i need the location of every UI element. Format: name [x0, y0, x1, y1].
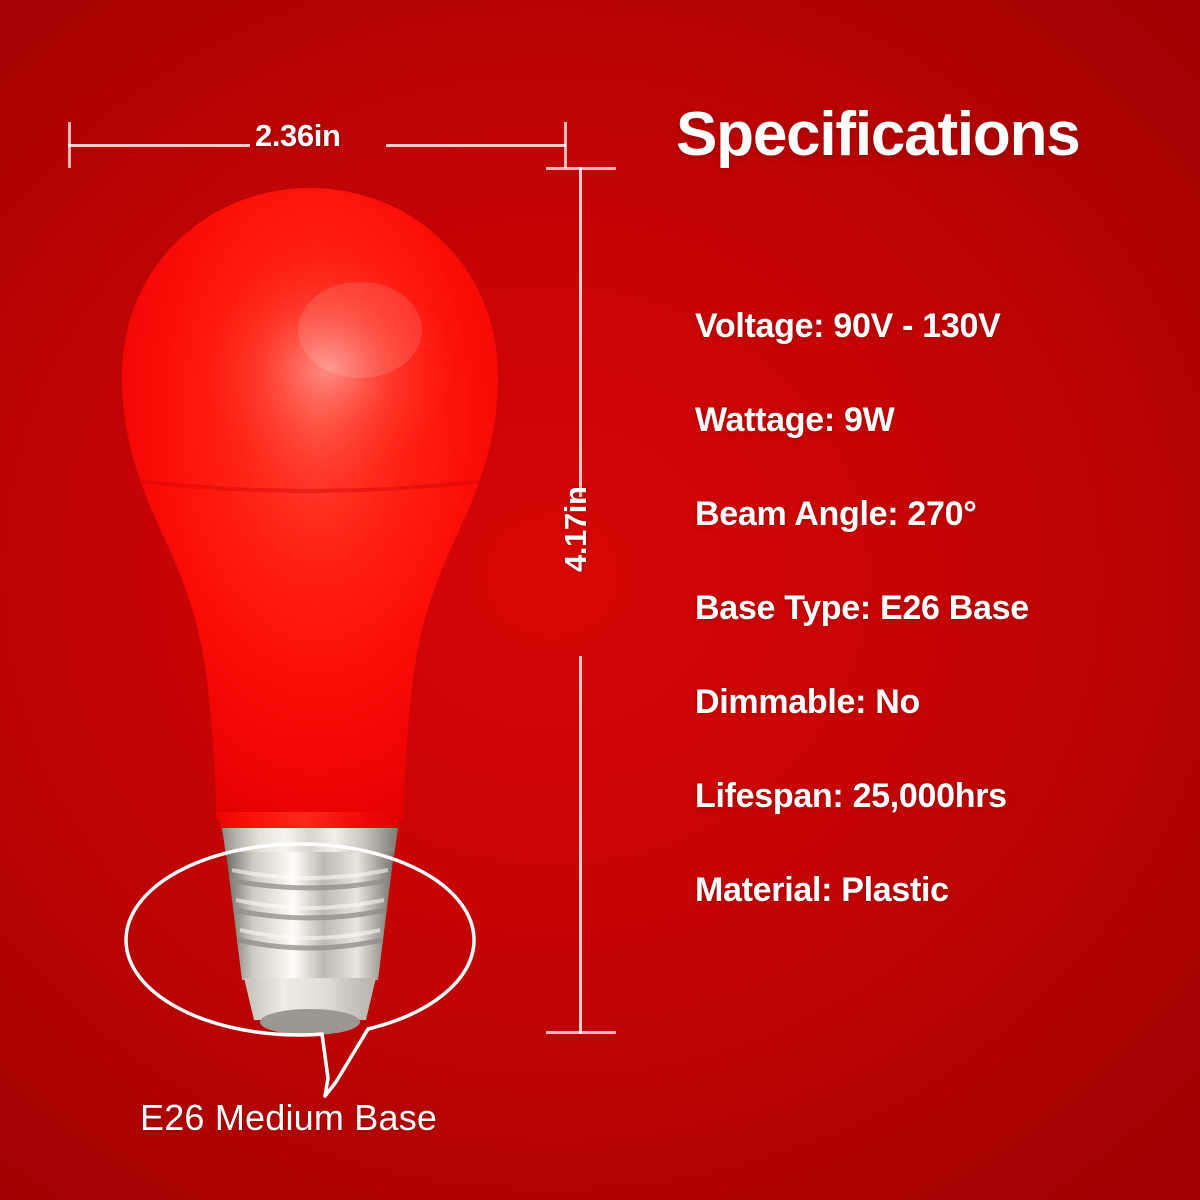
spec-item-lifespan: Lifespan: 25,000hrs — [695, 774, 1165, 868]
specifications-title: Specifications — [676, 104, 1172, 166]
light-bulb-image — [60, 180, 560, 1040]
globe-highlight-secondary — [298, 282, 422, 378]
spec-item-material: Material: Plastic — [695, 868, 1165, 962]
width-dimension-cap-right — [564, 122, 567, 168]
width-dimension-line-left — [68, 144, 250, 147]
width-dimension-line-right — [386, 144, 566, 147]
spec-item-base-type: Base Type: E26 Base — [695, 586, 1165, 680]
specifications-list: Voltage: 90V - 130V Wattage: 9W Beam Ang… — [695, 304, 1165, 962]
base-foot-contact — [260, 1009, 360, 1035]
callout-caption-text: E26 Medium Base — [140, 1097, 437, 1139]
screw-base-collar — [222, 828, 398, 856]
width-dimension-label: 2.36in — [255, 118, 340, 154]
specifications-panel: Specifications Voltage: 90V - 130V Watta… — [672, 104, 1172, 984]
height-dimension-label: 4.17in — [558, 392, 594, 572]
spec-item-voltage: Voltage: 90V - 130V — [695, 304, 1165, 398]
spec-item-wattage: Wattage: 9W — [695, 398, 1165, 492]
product-spec-graphic: 2.36in 4.17in E26 Medium Base Specificat… — [0, 0, 1200, 1200]
height-dimension-line-bottom — [579, 656, 582, 1034]
height-dimension-cap-bottom — [546, 1031, 616, 1034]
spec-item-beam-angle: Beam Angle: 270° — [695, 492, 1165, 586]
spec-item-dimmable: Dimmable: No — [695, 680, 1165, 774]
